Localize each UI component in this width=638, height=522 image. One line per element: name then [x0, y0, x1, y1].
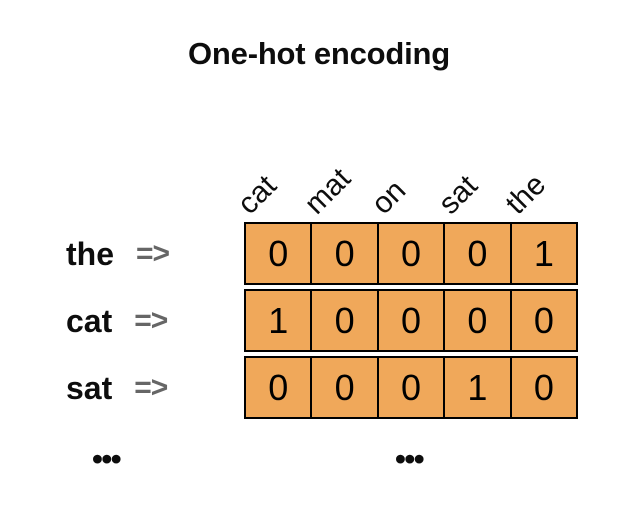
row-word: sat: [66, 372, 112, 404]
ellipsis-matrix: •••: [395, 443, 423, 474]
one-hot-encoding-figure: One-hot encoding cat mat on sat the the …: [0, 0, 638, 522]
matrix-cell: 0: [512, 291, 576, 350]
column-header-label: the: [501, 169, 552, 220]
matrix-cell: 0: [445, 224, 511, 283]
figure-title: One-hot encoding: [0, 36, 638, 72]
table-row: 1 0 0 0 0: [244, 289, 578, 352]
row-word: the: [66, 238, 114, 270]
matrix-cell: 1: [512, 224, 576, 283]
row-label-cat: cat =>: [0, 289, 244, 352]
table-row: 0 0 0 0 1: [244, 222, 578, 285]
matrix-cell: 1: [246, 291, 312, 350]
matrix-cell: 0: [312, 224, 378, 283]
arrow-icon: =>: [134, 373, 167, 403]
column-header-label: cat: [233, 170, 283, 220]
column-header-label: on: [367, 175, 412, 220]
row-word: cat: [66, 305, 112, 337]
matrix-cell: 0: [379, 291, 445, 350]
matrix-cell: 0: [312, 358, 378, 417]
row-label-the: the =>: [0, 222, 244, 285]
matrix-cell: 0: [512, 358, 576, 417]
matrix-cell: 0: [246, 358, 312, 417]
matrix-cell: 0: [312, 291, 378, 350]
ellipsis-rows: •••: [92, 443, 120, 474]
row-label-sat: sat =>: [0, 356, 244, 419]
matrix-cell: 1: [445, 358, 511, 417]
one-hot-matrix: 0 0 0 0 1 1 0 0 0 0 0 0 0 1 0: [244, 222, 578, 419]
matrix-cell: 0: [246, 224, 312, 283]
arrow-icon: =>: [136, 239, 169, 269]
matrix-cell: 0: [379, 358, 445, 417]
row-label-column: the => cat => sat =>: [0, 222, 244, 419]
table-row: 0 0 0 1 0: [244, 356, 578, 419]
matrix-cell: 0: [379, 224, 445, 283]
arrow-icon: =>: [134, 306, 167, 336]
column-header-label: mat: [300, 163, 357, 220]
column-header-label: sat: [434, 170, 484, 220]
matrix-cell: 0: [445, 291, 511, 350]
